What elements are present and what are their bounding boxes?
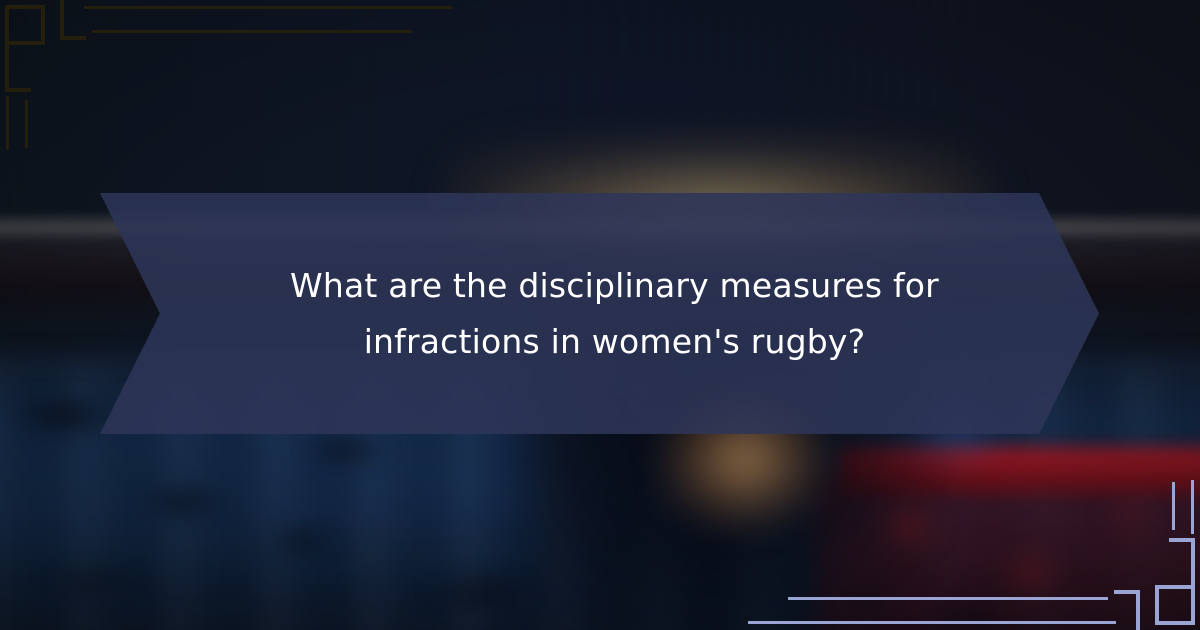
headline-text: What are the disciplinary measures for i…: [235, 258, 965, 370]
social-card: What are the disciplinary measures for i…: [0, 0, 1200, 630]
headline-banner: What are the disciplinary measures for i…: [100, 193, 1099, 434]
